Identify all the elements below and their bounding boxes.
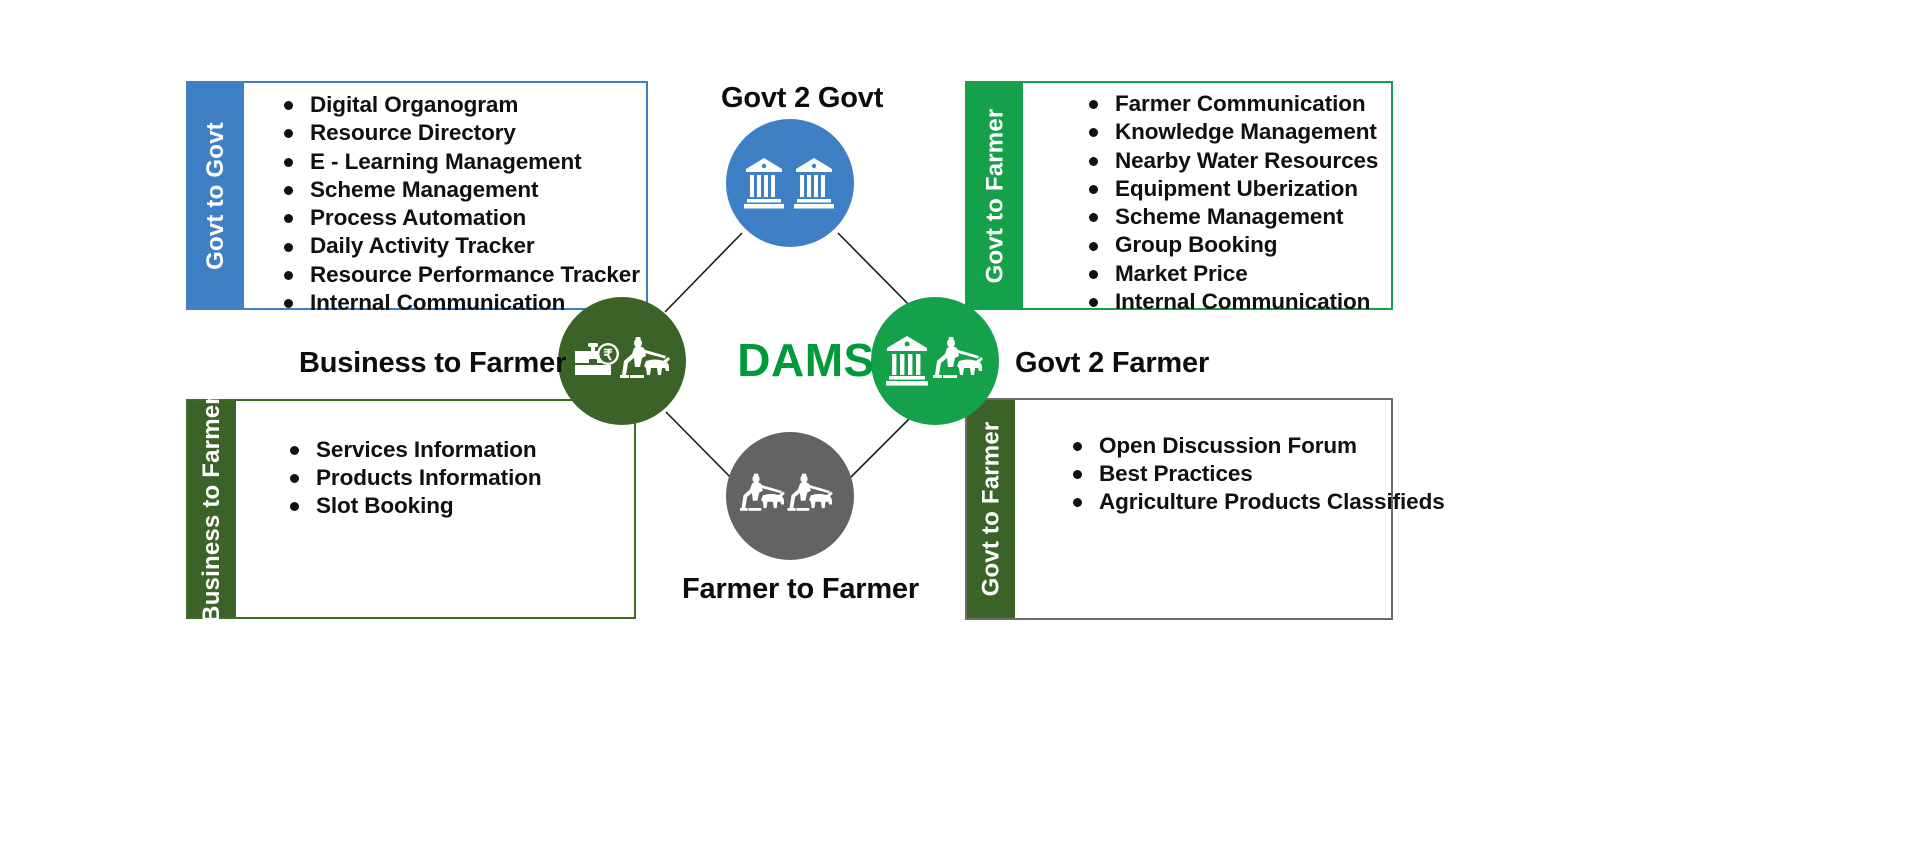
feature-list-govt-to-farmer: Farmer Communication Knowledge Managemen…	[1083, 90, 1383, 316]
panel-body: Digital Organogram Resource Directory E …	[244, 83, 646, 308]
list-item[interactable]: E - Learning Management	[278, 148, 638, 176]
list-item[interactable]: Resource Directory	[278, 119, 638, 147]
panel-govt-to-farmer: Govt to Farmer Farmer Communication Know…	[965, 81, 1393, 310]
center-label-dams: DAMS	[713, 333, 899, 387]
panel-spine-govt-to-farmer: Govt to Farmer	[967, 83, 1023, 308]
panel-spine-govt-to-govt: Govt to Govt	[188, 83, 244, 308]
list-item[interactable]: Resource Performance Tracker	[278, 261, 638, 289]
list-item[interactable]: Internal Communication	[1083, 288, 1383, 316]
list-item[interactable]: Scheme Management	[278, 176, 638, 204]
node-caption-farmer-to-farmer: Farmer to Farmer	[682, 573, 919, 606]
feature-list-govt-to-govt: Digital Organogram Resource Directory E …	[278, 91, 638, 317]
two-farmers-bullock-icon	[740, 468, 840, 524]
list-item[interactable]: Best Practices	[1067, 460, 1383, 488]
list-item[interactable]: Process Automation	[278, 204, 638, 232]
panel-farmer-to-farmer: Govt to Farmer Open Discussion Forum Bes…	[965, 398, 1393, 620]
list-item[interactable]: Nearby Water Resources	[1083, 147, 1383, 175]
panel-spine-business-to-farmer: Business to Farmer	[188, 401, 236, 617]
node-caption-business-to-farmer: Business to Farmer	[299, 347, 566, 380]
bank-bank-icon	[742, 153, 838, 213]
panel-govt-to-govt: Govt to Govt Digital Organogram Resource…	[186, 81, 648, 310]
diagram-canvas: Govt to Govt Digital Organogram Resource…	[0, 0, 1917, 850]
node-farmer-to-farmer[interactable]	[726, 432, 854, 560]
node-caption-govt-to-farmer: Govt 2 Farmer	[1015, 347, 1209, 380]
list-item[interactable]: Farmer Communication	[1083, 90, 1383, 118]
list-item[interactable]: Agriculture Products Classifieds	[1067, 488, 1383, 516]
list-item[interactable]: Knowledge Management	[1083, 118, 1383, 146]
node-govt-to-govt[interactable]	[726, 119, 854, 247]
bank-farmer-bullock-icon	[885, 331, 985, 391]
spine-label: Govt to Farmer	[977, 422, 1005, 597]
list-item[interactable]: Daily Activity Tracker	[278, 232, 638, 260]
panel-body: Open Discussion Forum Best Practices Agr…	[1015, 400, 1391, 618]
feature-list-business-to-farmer: Services Information Products Informatio…	[284, 436, 626, 520]
node-caption-govt-to-govt: Govt 2 Govt	[721, 82, 883, 115]
node-business-to-farmer[interactable]: ₹	[558, 297, 686, 425]
list-item[interactable]: Digital Organogram	[278, 91, 638, 119]
list-item[interactable]: Services Information	[284, 436, 626, 464]
panel-body: Services Information Products Informatio…	[236, 401, 634, 617]
list-item[interactable]: Products Information	[284, 464, 626, 492]
list-item[interactable]: Slot Booking	[284, 492, 626, 520]
panel-spine-farmer-to-farmer: Govt to Farmer	[967, 400, 1015, 618]
panel-business-to-farmer: Business to Farmer Services Information …	[186, 399, 636, 619]
briefcase-rupee-farmer-bullock-icon: ₹	[572, 331, 672, 391]
list-item[interactable]: Equipment Uberization	[1083, 175, 1383, 203]
spine-label: Govt to Govt	[202, 122, 230, 270]
list-item[interactable]: Scheme Management	[1083, 203, 1383, 231]
list-item[interactable]: Group Booking	[1083, 231, 1383, 259]
list-item[interactable]: Open Discussion Forum	[1067, 432, 1383, 460]
feature-list-farmer-to-farmer: Open Discussion Forum Best Practices Agr…	[1067, 432, 1383, 516]
panel-body: Farmer Communication Knowledge Managemen…	[1023, 83, 1391, 308]
spine-label: Business to Farmer	[198, 395, 226, 623]
svg-text:₹: ₹	[603, 347, 613, 364]
list-item[interactable]: Market Price	[1083, 260, 1383, 288]
spine-label: Govt to Farmer	[981, 108, 1009, 283]
